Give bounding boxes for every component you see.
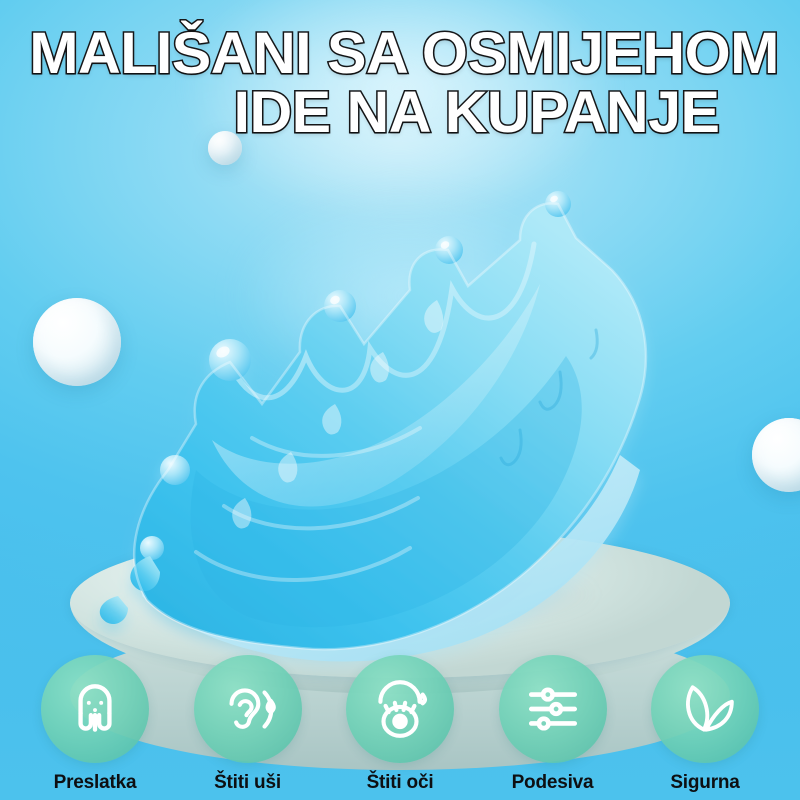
headline: MALIŠANI SA OSMIJEHOM IDE NA KUPANJE xyxy=(0,24,800,142)
feature-badge-preslatka xyxy=(41,655,149,763)
eye-shield-icon xyxy=(367,676,433,742)
feature-label-stiti-usi: Štiti uši xyxy=(214,772,281,794)
feature-label-podesiva: Podesiva xyxy=(512,772,594,794)
feature-badge-stiti-oci xyxy=(346,655,454,763)
feature-item-stiti-usi[interactable]: Štiti uši xyxy=(187,655,309,794)
feature-row: Preslatka Štiti uši xyxy=(0,655,800,794)
feature-badge-sigurna xyxy=(651,655,759,763)
feature-item-stiti-oci[interactable]: Štiti oči xyxy=(339,655,461,794)
feature-item-podesiva[interactable]: Podesiva xyxy=(492,655,614,794)
feature-item-sigurna[interactable]: Sigurna xyxy=(644,655,766,794)
feature-label-stiti-oci: Štiti oči xyxy=(367,772,434,794)
feature-badge-stiti-usi xyxy=(194,655,302,763)
sphere-large-left xyxy=(33,298,121,386)
feature-badge-podesiva xyxy=(499,655,607,763)
product-banner: MALIŠANI SA OSMIJEHOM IDE NA KUPANJE Pre… xyxy=(0,0,800,800)
feature-label-preslatka: Preslatka xyxy=(54,772,137,794)
product-cast-shadow xyxy=(123,548,677,640)
feature-label-sigurna: Sigurna xyxy=(670,772,739,794)
headline-line-1: MALIŠANI SA OSMIJEHOM xyxy=(0,24,800,83)
octopus-icon xyxy=(62,676,128,742)
sliders-icon xyxy=(520,676,586,742)
feature-item-preslatka[interactable]: Preslatka xyxy=(34,655,156,794)
ear-water-drop-icon xyxy=(215,676,281,742)
background-glow-middle xyxy=(176,160,640,432)
leaves-icon xyxy=(672,676,738,742)
headline-line-2: IDE NA KUPANJE xyxy=(0,83,800,142)
